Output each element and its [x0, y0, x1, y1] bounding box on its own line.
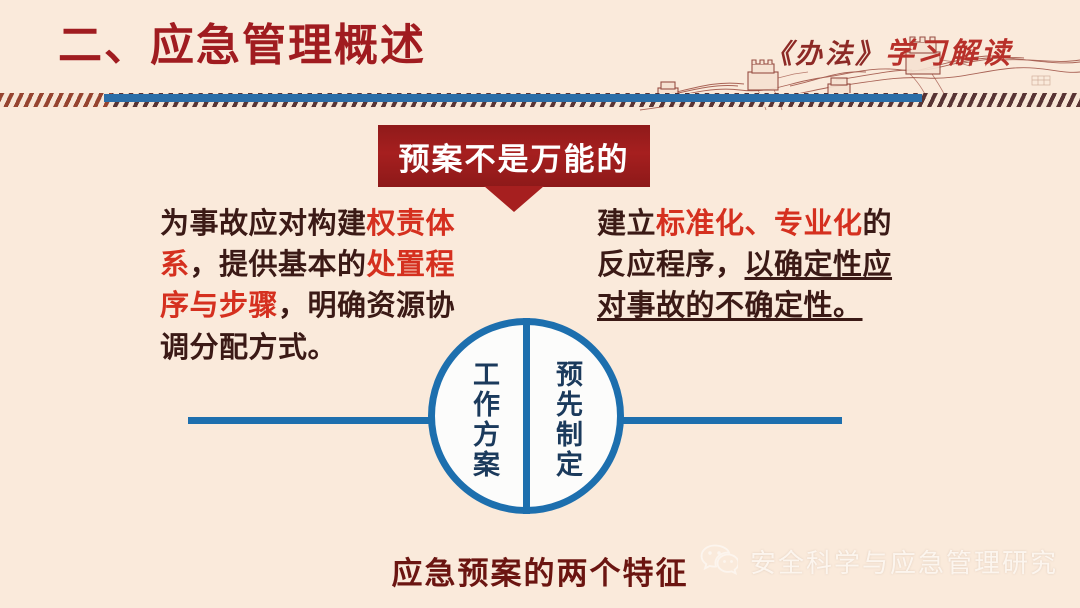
brush-subtitle: 《办法》学习解读: [765, 30, 1013, 72]
diagram-left-half-label: 工作方案: [470, 360, 497, 480]
headline-banner-text: 预案不是万能的: [399, 134, 630, 179]
right-seg-0: 建立: [597, 208, 656, 240]
page-title: 二、应急管理概述: [58, 22, 426, 70]
banner-pointer-triangle: [484, 186, 544, 212]
watermark-text: 安全科学与应急管理研究: [750, 543, 1058, 580]
left-seg-2: ，提供基本的: [190, 249, 367, 281]
right-seg-1: 标准化、专业化: [656, 208, 863, 240]
slide-canvas: 二、应急管理概述: [0, 0, 1080, 608]
blue-divider-rule: [104, 94, 922, 102]
diagram-circle-divider: [523, 318, 530, 514]
brush-subtitle-prefix: 《办法》: [765, 39, 885, 69]
watermark: 安全科学与应急管理研究: [700, 543, 1058, 580]
hatched-divider-band-warm: [0, 93, 112, 107]
brush-subtitle-main: 学习解读: [885, 38, 1013, 70]
left-seg-0: 为事故应对构建: [160, 208, 367, 240]
headline-banner: 预案不是万能的: [378, 125, 650, 187]
left-paragraph: 为事故应对构建权责体系，提供基本的处置程序与步骤，明确资源协调分配方式。: [160, 204, 462, 369]
diagram-right-half-label: 预先制定: [553, 360, 580, 480]
right-paragraph: 建立标准化、专业化的反应程序，以确定性应对事故的不确定性。: [597, 204, 897, 328]
wechat-icon: [700, 543, 738, 580]
